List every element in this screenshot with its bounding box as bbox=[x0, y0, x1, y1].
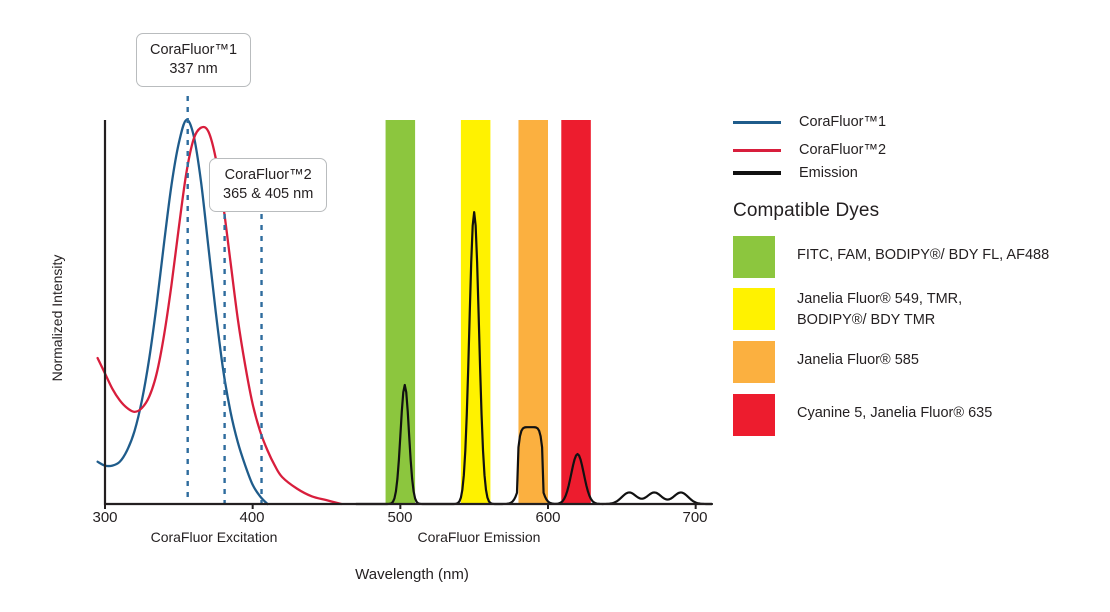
dye-swatch-orange bbox=[733, 341, 775, 383]
emission-band-2 bbox=[518, 120, 548, 504]
chart-plot-area: 300 400 500 600 700 CoraFluor Excitation… bbox=[0, 0, 730, 612]
x-tick-300: 300 bbox=[75, 509, 135, 526]
callout-corafluor2: CoraFluor™2 365 & 405 nm bbox=[209, 158, 327, 212]
dye-label-janelia585-line1: Janelia Fluor® 585 bbox=[797, 352, 919, 368]
legend-item-corafluor2[interactable]: CoraFluor™2 bbox=[733, 142, 886, 158]
callout-corafluor1-line1: CoraFluor™1 bbox=[150, 41, 237, 60]
legend-line-corafluor1 bbox=[733, 121, 781, 124]
legend-label-emission: Emission bbox=[799, 165, 858, 181]
callout-corafluor1-line2: 337 nm bbox=[150, 60, 237, 79]
emission-region-label: CoraFluor Emission bbox=[359, 529, 599, 545]
legend-line-corafluor2 bbox=[733, 149, 781, 152]
x-axis-title: Wavelength (nm) bbox=[292, 566, 532, 583]
callout-corafluor1: CoraFluor™1 337 nm bbox=[136, 33, 251, 87]
x-tick-500: 500 bbox=[370, 509, 430, 526]
excitation-region-label: CoraFluor Excitation bbox=[94, 529, 334, 545]
callout-corafluor2-line1: CoraFluor™2 bbox=[223, 166, 313, 185]
compatible-dyes-heading: Compatible Dyes bbox=[733, 200, 879, 222]
dye-swatch-green bbox=[733, 236, 775, 278]
dye-swatch-red bbox=[733, 394, 775, 436]
dye-item-fitc[interactable]: FITC, FAM, BODIPY®/ BDY FL, AF488 bbox=[733, 236, 1049, 278]
legend-line-emission bbox=[733, 171, 781, 175]
dye-label-cyanine5: Cyanine 5, Janelia Fluor® 635 bbox=[797, 394, 992, 424]
dye-swatch-yellow bbox=[733, 288, 775, 330]
dye-label-janelia585: Janelia Fluor® 585 bbox=[797, 341, 919, 371]
legend-item-emission[interactable]: Emission bbox=[733, 165, 858, 181]
y-axis-title: Normalized Intensity bbox=[49, 223, 65, 413]
dye-label-janelia549-line1: Janelia Fluor® 549, TMR, bbox=[797, 291, 962, 307]
dye-item-cyanine5[interactable]: Cyanine 5, Janelia Fluor® 635 bbox=[733, 394, 992, 436]
dye-label-janelia549-line2: BODIPY®/ BDY TMR bbox=[797, 312, 935, 328]
callout-corafluor2-line2: 365 & 405 nm bbox=[223, 185, 313, 204]
dye-item-janelia549[interactable]: Janelia Fluor® 549, TMR, BODIPY®/ BDY TM… bbox=[733, 288, 962, 330]
x-tick-400: 400 bbox=[222, 509, 282, 526]
dye-item-janelia585[interactable]: Janelia Fluor® 585 bbox=[733, 341, 919, 383]
legend-label-corafluor2: CoraFluor™2 bbox=[799, 142, 886, 158]
x-tick-700: 700 bbox=[665, 509, 725, 526]
legend-item-corafluor1[interactable]: CoraFluor™1 bbox=[733, 114, 886, 130]
spectra-figure: 300 400 500 600 700 CoraFluor Excitation… bbox=[0, 0, 1110, 612]
dye-label-janelia549: Janelia Fluor® 549, TMR, BODIPY®/ BDY TM… bbox=[797, 288, 962, 330]
emission-band-3 bbox=[561, 120, 591, 504]
legend-panel: CoraFluor™1 CoraFluor™2 Emission Compati… bbox=[730, 0, 1110, 612]
x-tick-600: 600 bbox=[518, 509, 578, 526]
dye-label-fitc-line1: FITC, FAM, BODIPY®/ BDY FL, AF488 bbox=[797, 247, 1049, 263]
legend-label-corafluor1: CoraFluor™1 bbox=[799, 114, 886, 130]
dye-label-fitc: FITC, FAM, BODIPY®/ BDY FL, AF488 bbox=[797, 236, 1049, 266]
dye-label-cyanine5-line1: Cyanine 5, Janelia Fluor® 635 bbox=[797, 405, 992, 421]
